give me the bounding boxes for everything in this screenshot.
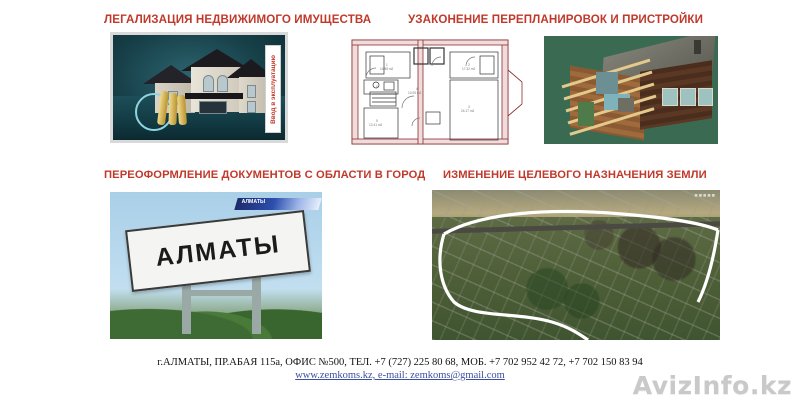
section-heading-redevelopment: УЗАКОНЕНИЕ ПЕРЕПЛАНИРОВОК И ПРИСТРОЙКИ [408, 13, 703, 26]
window-right-2 [247, 101, 256, 113]
window-front-2 [680, 88, 696, 106]
photo-corner-marker: ■■■■■ [694, 193, 716, 199]
land-boundary-outline [432, 190, 720, 340]
svg-text:12.41 m2: 12.41 m2 [369, 123, 383, 127]
log-house-3d-render [538, 30, 724, 150]
aerial-settlement-photo: ■■■■■ [432, 190, 720, 340]
floor-plan-drawing: 114.98 m2 217.32 m2 324.17 m2 410.05 m2 … [346, 30, 530, 152]
watermark-avizinfo: AvizInfo.kz [633, 371, 792, 400]
sign-post-right [252, 272, 261, 334]
tv-channel-banner: АЛМАТЫ [234, 198, 321, 210]
chimney [694, 40, 701, 54]
flyer-page: ЛЕГАЛИЗАЦИЯ НЕДВИЖИМОГО ИМУЩЕСТВА УЗАКОН… [0, 0, 800, 404]
svg-text:6: 6 [376, 85, 378, 89]
image-vertical-caption: Ввод в эксплуатацию [265, 45, 281, 133]
svg-text:14.98 m2: 14.98 m2 [380, 67, 394, 71]
window-arch-2 [217, 75, 228, 92]
almaty-road-sign-photo: АЛМАТЫ АЛМАТЫ [110, 192, 322, 339]
floor-plan-svg: 114.98 m2 217.32 m2 324.17 m2 410.05 m2 … [346, 30, 530, 152]
window-front-1 [662, 88, 678, 106]
svg-text:17.32 m2: 17.32 m2 [462, 67, 476, 71]
trees-foreground [110, 289, 322, 339]
svg-text:24.17 m2: 24.17 m2 [461, 109, 475, 113]
section-heading-land-purpose-change: ИЗМЕНЕНИЕ ЦЕЛЕВОГО НАЗНАЧЕНИЯ ЗЕМЛИ [443, 169, 707, 181]
window-arch-1 [203, 75, 214, 92]
sign-post-left [182, 278, 191, 334]
window-front-3 [698, 88, 713, 106]
section-heading-documents-transfer: ПЕРЕОФОРМЛЕНИЕ ДОКУМЕНТОВ С ОБЛАСТИ В ГО… [104, 169, 425, 181]
section-heading-legalization: ЛЕГАЛИЗАЦИЯ НЕДВИЖИМОГО ИМУЩЕСТВА [104, 13, 371, 26]
porch-canopy [185, 93, 243, 99]
svg-text:10.05 m2: 10.05 m2 [408, 91, 422, 95]
footer-contact-link[interactable]: www.zemkoms.kz, e-mail: zemkoms@gmail.co… [295, 370, 505, 381]
window-ground-floor [199, 101, 227, 114]
footer-address: г.АЛМАТЫ, ПР.АБАЯ 115а, ОФИС №500, ТЕЛ. … [0, 357, 800, 368]
sign-post-crossbar [184, 290, 258, 296]
door-opening [578, 102, 594, 126]
window-right-1 [247, 85, 256, 98]
house-with-keys-photo: Ввод в эксплуатацию [110, 32, 288, 143]
interior-opening-1 [596, 72, 618, 94]
wall-opening [618, 98, 634, 112]
